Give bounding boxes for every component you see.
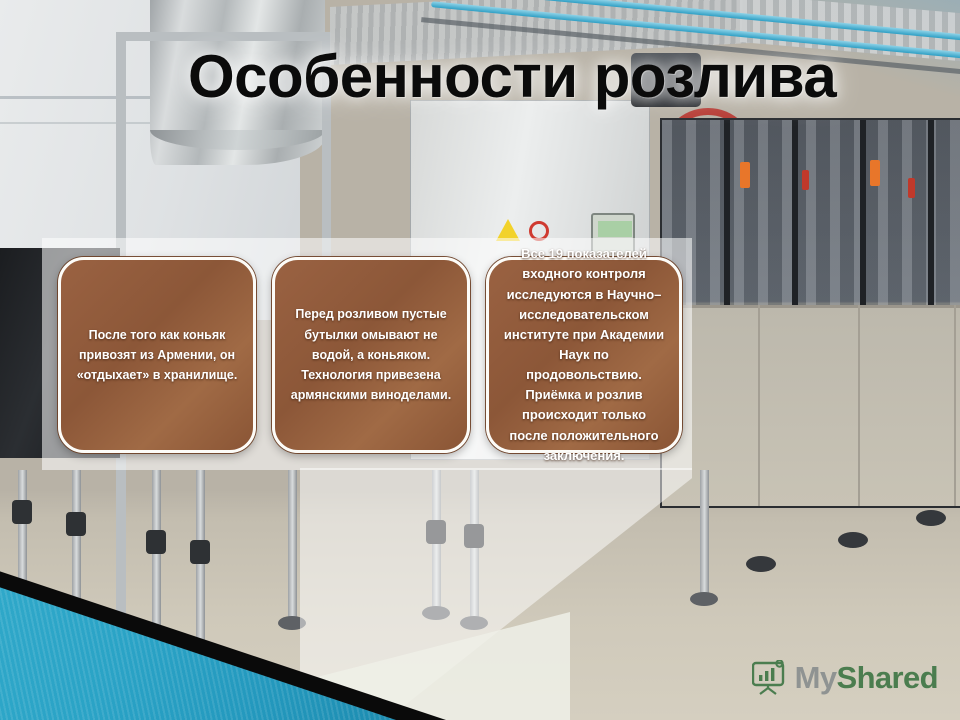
indicator-red: [908, 178, 915, 198]
watermark-text-my: My: [795, 660, 837, 695]
conveyor-leg: [288, 470, 297, 620]
presentation-board-icon: [752, 660, 786, 696]
callout-box-2[interactable]: Перед розливом пустые бутылки омывают не…: [272, 257, 470, 453]
indicator-orange: [870, 160, 880, 186]
callout-text-1: После того как коньяк привозят из Армени…: [75, 325, 239, 386]
watermark-text: MyShared: [795, 660, 938, 696]
cabinet-mullion: [860, 120, 866, 305]
filling-machine-cabinet: [660, 118, 960, 508]
callout-text-2: Перед розливом пустые бутылки омывают не…: [289, 304, 453, 405]
callout-group: После того как коньяк привозят из Армени…: [58, 257, 678, 453]
callout-text-3: Все 19 показателей входного контроля исс…: [503, 244, 665, 466]
callout-box-3[interactable]: Все 19 показателей входного контроля исс…: [486, 257, 682, 453]
cabinet-door-seam: [758, 305, 760, 506]
leg-clamp: [12, 500, 32, 524]
indicator-red: [802, 170, 809, 190]
frame-beam: [120, 32, 330, 41]
presentation-slide: Особенности розлива После того как конья…: [0, 0, 960, 720]
cabinet-mullion: [928, 120, 934, 305]
cabinet-mullion: [724, 120, 730, 305]
watermark-text-shared: Shared: [837, 660, 939, 695]
myshared-watermark[interactable]: MyShared: [752, 660, 938, 696]
page-title: Особенности розлива: [188, 42, 888, 111]
conveyor-leg: [700, 470, 709, 596]
leg-clamp: [146, 530, 166, 554]
cabinet-mullion: [792, 120, 798, 305]
leg-clamp: [66, 512, 86, 536]
cabinet-door-seam: [954, 305, 956, 506]
cabinet-sill: [662, 305, 960, 308]
machine-foot: [916, 510, 946, 526]
machine-foot: [746, 556, 776, 572]
leg-pad: [690, 592, 718, 606]
indicator-orange: [740, 162, 750, 188]
machine-foot: [838, 532, 868, 548]
conveyor-leg: [152, 470, 161, 648]
callout-box-1[interactable]: После того как коньяк привозят из Армени…: [58, 257, 256, 453]
cabinet-glass: [662, 120, 960, 305]
cabinet-door-seam: [858, 305, 860, 506]
leg-clamp: [190, 540, 210, 564]
